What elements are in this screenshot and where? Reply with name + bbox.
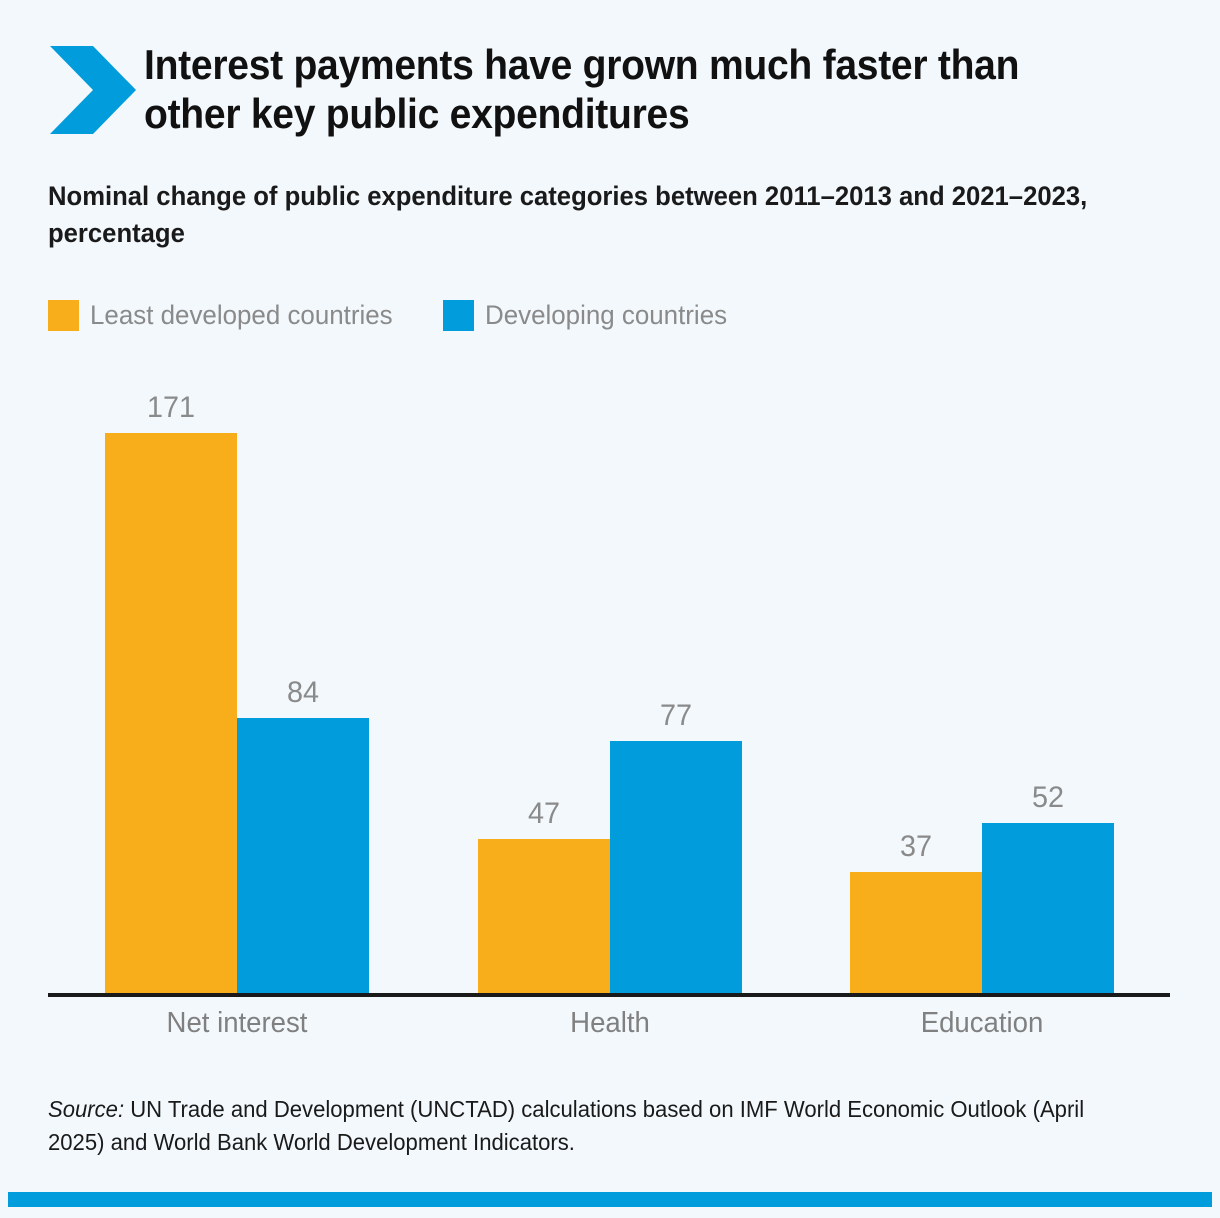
legend-swatch-icon bbox=[443, 300, 474, 331]
source-label: Source: bbox=[48, 1096, 124, 1122]
bar-value-label: 52 bbox=[985, 781, 1112, 815]
chevron-right-icon bbox=[48, 38, 144, 136]
legend-item-developing-countries[interactable]: Developing countries bbox=[443, 300, 737, 331]
bar-value-label: 84 bbox=[240, 676, 367, 710]
bar-education-least-developed-countries bbox=[850, 872, 982, 993]
x-axis-line bbox=[48, 993, 1170, 997]
source-text: UN Trade and Development (UNCTAD) calcul… bbox=[48, 1096, 1084, 1155]
footer-accent-bar bbox=[8, 1192, 1212, 1207]
source-note: Source: UN Trade and Development (UNCTAD… bbox=[48, 1093, 1114, 1159]
page-title: Interest payments have grown much faster… bbox=[144, 38, 1106, 138]
chart-plot-area: 1718447773752 bbox=[48, 370, 1170, 997]
x-axis-category-labels: Net interestHealthEducation bbox=[48, 1003, 1170, 1047]
bar-education-developing-countries bbox=[982, 823, 1114, 993]
legend-swatch-icon bbox=[48, 300, 79, 331]
bar-health-least-developed-countries bbox=[478, 839, 610, 993]
bar-net-interest-developing-countries bbox=[237, 718, 369, 993]
chart-legend: Least developed countries Developing cou… bbox=[48, 300, 775, 331]
bar-value-label: 171 bbox=[108, 391, 235, 425]
bars-layer: 1718447773752 bbox=[48, 370, 1170, 995]
legend-label: Least developed countries bbox=[90, 300, 393, 331]
chart-header: Interest payments have grown much faster… bbox=[48, 38, 1178, 138]
bar-value-label: 37 bbox=[853, 830, 980, 864]
legend-label: Developing countries bbox=[485, 300, 727, 331]
x-axis-label-education: Education bbox=[857, 1003, 1108, 1043]
bar-value-label: 47 bbox=[481, 797, 608, 831]
bar-value-label: 77 bbox=[613, 699, 740, 733]
bar-net-interest-least-developed-countries bbox=[105, 433, 237, 993]
bar-health-developing-countries bbox=[610, 741, 742, 993]
chart-subtitle: Nominal change of public expenditure cat… bbox=[48, 178, 1107, 252]
legend-item-least-developed-countries[interactable]: Least developed countries bbox=[48, 300, 405, 331]
x-axis-label-health: Health bbox=[485, 1003, 736, 1043]
x-axis-label-net-interest: Net interest bbox=[112, 1003, 363, 1043]
